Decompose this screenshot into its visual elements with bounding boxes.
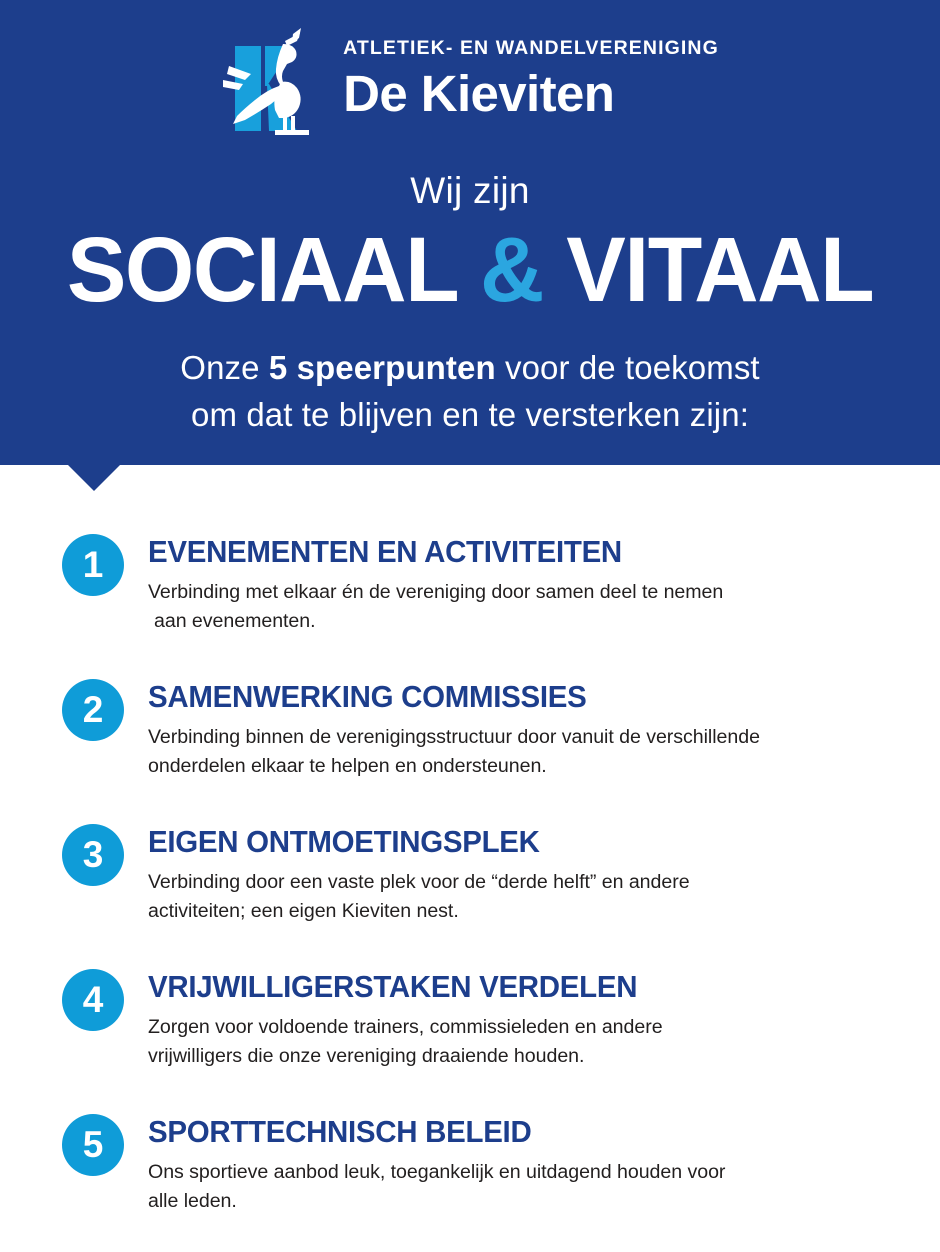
item-number-badge: 2 (62, 679, 124, 741)
item-body: Ons sportieve aanbod leuk, toegankelijk … (148, 1158, 908, 1218)
subtitle-highlight: 5 speerpunten (269, 349, 496, 386)
logo-wordmark: ATLETIEK- EN WANDELVERENIGING De Kievite… (343, 22, 719, 121)
item-body-line: Verbinding door een vaste plek voor de “… (148, 868, 908, 898)
item-title: EIGEN ONTMOETINGSPLEK (148, 802, 872, 860)
subtitle-line-1: Onze 5 speerpunten voor de toekomst (0, 345, 940, 392)
subtitle-line-2: om dat te blijven en te versterken zijn: (0, 392, 940, 439)
subtitle: Onze 5 speerpunten voor de toekomst om d… (0, 345, 940, 439)
item-body: Verbinding binnen de verenigingsstructuu… (148, 723, 908, 783)
item-number-badge: 1 (62, 534, 124, 596)
subtitle-line-1-post: voor de toekomst (496, 349, 760, 386)
item-body-line: aan evenementen. (148, 607, 908, 637)
item-number-badge: 4 (62, 969, 124, 1031)
speerpunten-list: 1 EVENEMENTEN EN ACTIVITEITEN Verbinding… (0, 512, 940, 1237)
item-body: Zorgen voor voldoende trainers, commissi… (148, 1013, 908, 1073)
item-title: EVENEMENTEN EN ACTIVITEITEN (148, 512, 872, 570)
list-item: 5 SPORTTECHNISCH BELEID Ons sportieve aa… (0, 1092, 940, 1222)
item-title: SPORTTECHNISCH BELEID (148, 1092, 872, 1150)
list-item: 2 SAMENWERKING COMMISSIES Verbinding bin… (0, 657, 940, 787)
list-item: 3 EIGEN ONTMOETINGSPLEK Verbinding door … (0, 802, 940, 932)
headline-ampersand: & (480, 219, 543, 321)
item-title: SAMENWERKING COMMISSIES (148, 657, 872, 715)
item-body-line: activiteiten; een eigen Kieviten nest. (148, 897, 908, 927)
list-item: 4 VRIJWILLIGERSTAKEN VERDELEN Zorgen voo… (0, 947, 940, 1077)
item-body: Verbinding door een vaste plek voor de “… (148, 868, 908, 928)
item-number-badge: 3 (62, 824, 124, 886)
header-banner: ATLETIEK- EN WANDELVERENIGING De Kievite… (0, 0, 940, 465)
item-body-line: Verbinding binnen de verenigingsstructuu… (148, 723, 908, 753)
subtitle-line-1-pre: Onze (180, 349, 269, 386)
headline: SOCIAAL & VITAAL (14, 222, 926, 319)
item-body-line: alle leden. (148, 1187, 908, 1217)
kievit-bird-k-logo-icon (221, 24, 329, 142)
logo-lockup: ATLETIEK- EN WANDELVERENIGING De Kievite… (0, 22, 940, 140)
header-pointer-notch-icon (68, 465, 120, 491)
logo-name: De Kieviten (343, 66, 719, 121)
logo-kicker: ATLETIEK- EN WANDELVERENIGING (343, 39, 719, 59)
item-number-badge: 5 (62, 1114, 124, 1176)
item-body-line: Zorgen voor voldoende trainers, commissi… (148, 1013, 908, 1043)
item-body-line: Ons sportieve aanbod leuk, toegankelijk … (148, 1158, 908, 1188)
item-body-line: Verbinding met elkaar én de vereniging d… (148, 578, 908, 608)
item-body: Verbinding met elkaar én de vereniging d… (148, 578, 908, 638)
item-title: VRIJWILLIGERSTAKEN VERDELEN (148, 947, 872, 1005)
headline-part-1: SOCIAAL (67, 219, 457, 321)
eyebrow-text: Wij zijn (0, 172, 940, 209)
item-body-line: onderdelen elkaar te helpen en ondersteu… (148, 752, 908, 782)
item-body-line: vrijwilligers die onze vereniging draaie… (148, 1042, 908, 1072)
infographic-poster: ATLETIEK- EN WANDELVERENIGING De Kievite… (0, 0, 940, 1252)
headline-part-2: VITAAL (566, 219, 873, 321)
list-item: 1 EVENEMENTEN EN ACTIVITEITEN Verbinding… (0, 512, 940, 642)
